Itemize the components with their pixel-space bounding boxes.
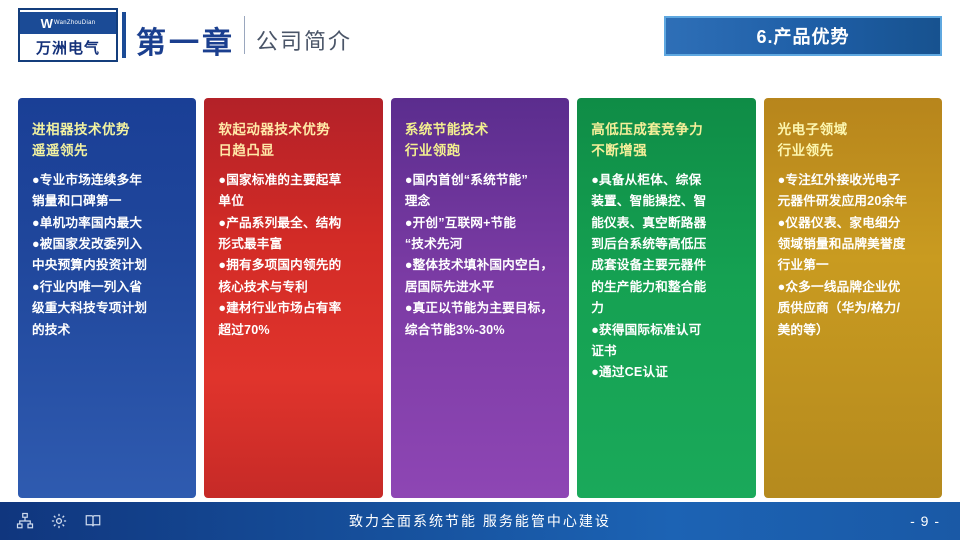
logo-pinyin-text: WanZhouDian bbox=[54, 20, 95, 26]
card-body: ●国内首创“系统节能”理念●开创”互联网+节能“技术先河●整体技术填补国内空白，… bbox=[405, 170, 555, 340]
card-body: ●具备从柜体、综保装置、智能操控、智能仪表、真空断路器到后台系统等高低压成套设备… bbox=[591, 170, 741, 383]
chapter-subtitle: 公司简介 bbox=[256, 24, 352, 56]
card-body-line: 美的等） bbox=[778, 320, 928, 340]
card-heading: 高低压成套竞争力不断增强 bbox=[591, 120, 741, 162]
card-body-line: 能仪表、真空断路器 bbox=[591, 213, 741, 233]
card-body-line: ●获得国际标准认可 bbox=[591, 320, 741, 340]
card-body-line: ●整体技术填补国内空白， bbox=[405, 255, 555, 275]
card-heading: 软起动器技术优势日趋凸显 bbox=[218, 120, 368, 162]
card-body-line: ●行业内唯一列入省 bbox=[32, 277, 182, 297]
chapter-accent-bar bbox=[122, 12, 126, 58]
card-body-line: 形式最丰富 bbox=[218, 234, 368, 254]
card-body-line: 销量和口碑第一 bbox=[32, 191, 182, 211]
card-body-line: 证书 bbox=[591, 341, 741, 361]
card-body-line: ●国家标准的主要起草 bbox=[218, 170, 368, 190]
card-body-line: ●众多一线品牌企业优 bbox=[778, 277, 928, 297]
card-body-line: 力 bbox=[591, 298, 741, 318]
card-body-line: 中央预算内投资计划 bbox=[32, 255, 182, 275]
card-body-line: 到后台系统等高低压 bbox=[591, 234, 741, 254]
card-body-line: 质供应商（华为/格力/ bbox=[778, 298, 928, 318]
card-body-line: ●拥有多项国内领先的 bbox=[218, 255, 368, 275]
logo-company-name: 万洲电气 bbox=[36, 37, 100, 58]
footer-slogan: 致力全面系统节能 服务能管中心建设 bbox=[0, 511, 960, 531]
card-body-line: 居国际先进水平 bbox=[405, 277, 555, 297]
card-body-line: ●真正以节能为主要目标， bbox=[405, 298, 555, 318]
card-body-line: 的技术 bbox=[32, 320, 182, 340]
card-body-line: ●被国家发改委列入 bbox=[32, 234, 182, 254]
card-phase-shifter: 进相器技术优势遥遥领先 ●专业市场连续多年销量和口碑第一●单机功率国内最大●被国… bbox=[18, 98, 196, 498]
card-body-line: ●具备从柜体、综保 bbox=[591, 170, 741, 190]
card-body-line: 单位 bbox=[218, 191, 368, 211]
card-body-line: 核心技术与专利 bbox=[218, 277, 368, 297]
card-body-line: ●产品系列最全、结构 bbox=[218, 213, 368, 233]
card-body-line: “技术先河 bbox=[405, 234, 555, 254]
card-body-line: 综合节能3%-30% bbox=[405, 320, 555, 340]
card-optoelectronics: 光电子领域行业领先 ●专注红外接收光电子元器件研发应用20余年●仪器仪表、家电细… bbox=[764, 98, 942, 498]
card-body-line: ●专业市场连续多年 bbox=[32, 170, 182, 190]
company-logo: W WanZhouDian 万洲电气 bbox=[18, 8, 118, 62]
card-body-line: 的生产能力和整合能 bbox=[591, 277, 741, 297]
slide: W WanZhouDian 万洲电气 第一章 公司简介 6.产品优势 进相器技术… bbox=[0, 0, 960, 540]
chapter-divider bbox=[244, 16, 245, 54]
card-system-energy-saving: 系统节能技术行业领跑 ●国内首创“系统节能”理念●开创”互联网+节能“技术先河●… bbox=[391, 98, 569, 498]
slide-footer: 致力全面系统节能 服务能管中心建设 - 9 - bbox=[0, 502, 960, 540]
topic-badge-label: 6.产品优势 bbox=[756, 23, 849, 49]
card-body-line: ●开创”互联网+节能 bbox=[405, 213, 555, 233]
card-body-line: 元器件研发应用20余年 bbox=[778, 191, 928, 211]
logo-emblem: W WanZhouDian bbox=[20, 12, 116, 34]
card-body: ●专注红外接收光电子元器件研发应用20余年●仪器仪表、家电细分领域销量和品牌美誉… bbox=[778, 170, 928, 340]
card-body-line: ●通过CE认证 bbox=[591, 362, 741, 382]
advantage-card-list: 进相器技术优势遥遥领先 ●专业市场连续多年销量和口碑第一●单机功率国内最大●被国… bbox=[18, 98, 942, 498]
card-heading: 光电子领域行业领先 bbox=[778, 120, 928, 162]
card-body-line: 超过70% bbox=[218, 320, 368, 340]
card-body-line: 领域销量和品牌美誉度 bbox=[778, 234, 928, 254]
card-hv-lv-switchgear: 高低压成套竞争力不断增强 ●具备从柜体、综保装置、智能操控、智能仪表、真空断路器… bbox=[577, 98, 755, 498]
card-body-line: 装置、智能操控、智 bbox=[591, 191, 741, 211]
card-body-line: 理念 bbox=[405, 191, 555, 211]
card-body-line: 级重大科技专项计划 bbox=[32, 298, 182, 318]
card-body-line: 行业第一 bbox=[778, 255, 928, 275]
card-body-line: 成套设备主要元器件 bbox=[591, 255, 741, 275]
card-heading: 系统节能技术行业领跑 bbox=[405, 120, 555, 162]
card-soft-starter: 软起动器技术优势日趋凸显 ●国家标准的主要起草单位●产品系列最全、结构形式最丰富… bbox=[204, 98, 382, 498]
topic-badge: 6.产品优势 bbox=[664, 16, 942, 56]
footer-page-number: - 9 - bbox=[910, 513, 940, 529]
card-body: ●专业市场连续多年销量和口碑第一●单机功率国内最大●被国家发改委列入中央预算内投… bbox=[32, 170, 182, 340]
card-body-line: ●仪器仪表、家电细分 bbox=[778, 213, 928, 233]
card-body-line: ●建材行业市场占有率 bbox=[218, 298, 368, 318]
chapter-title: 第一章 bbox=[136, 18, 235, 62]
card-body-line: ●国内首创“系统节能” bbox=[405, 170, 555, 190]
card-heading: 进相器技术优势遥遥领先 bbox=[32, 120, 182, 162]
logo-mark-text: W bbox=[41, 17, 54, 30]
card-body-line: ●单机功率国内最大 bbox=[32, 213, 182, 233]
card-body-line: ●专注红外接收光电子 bbox=[778, 170, 928, 190]
card-body: ●国家标准的主要起草单位●产品系列最全、结构形式最丰富●拥有多项国内领先的核心技… bbox=[218, 170, 368, 340]
